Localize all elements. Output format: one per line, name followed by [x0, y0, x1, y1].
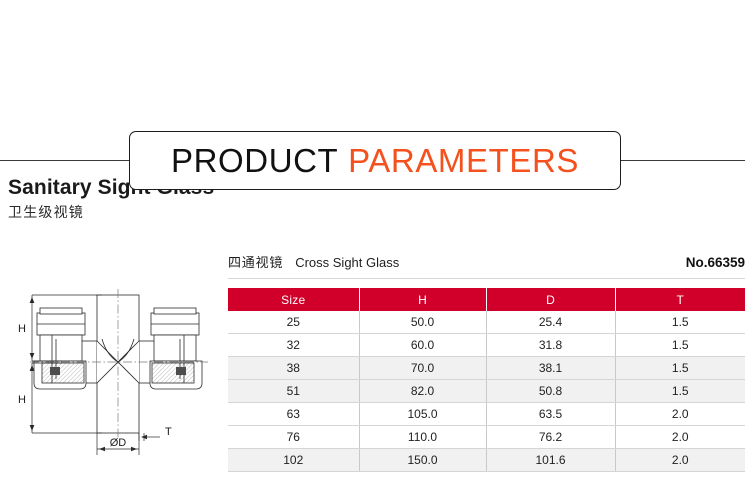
cell-d: 76.2	[486, 426, 615, 449]
cell-h: 110.0	[359, 426, 486, 449]
cell-t: 1.5	[615, 380, 745, 403]
table-row: 51 82.0 50.8 1.5	[228, 380, 745, 403]
dimension-label-thickness: T	[165, 426, 172, 438]
table-row: 32 60.0 31.8 1.5	[228, 334, 745, 357]
table-row: 38 70.0 38.1 1.5	[228, 357, 745, 380]
cell-size: 76	[228, 426, 359, 449]
cell-h: 50.0	[359, 311, 486, 334]
cell-d: 31.8	[486, 334, 615, 357]
column-header-d: D	[486, 288, 615, 311]
table-row: 76 110.0 76.2 2.0	[228, 426, 745, 449]
banner-box: PRODUCT PARAMETERS	[129, 131, 621, 190]
cell-d: 101.6	[486, 449, 615, 472]
column-header-h: H	[359, 288, 486, 311]
cell-size: 102	[228, 449, 359, 472]
cell-size: 51	[228, 380, 359, 403]
cell-t: 1.5	[615, 357, 745, 380]
cell-size: 63	[228, 403, 359, 426]
cell-h: 70.0	[359, 357, 486, 380]
spec-part-number: No.66359	[686, 255, 745, 270]
cell-t: 1.5	[615, 334, 745, 357]
spec-caption-cn: 四通视镜	[228, 255, 283, 270]
cell-h: 60.0	[359, 334, 486, 357]
cell-size: 32	[228, 334, 359, 357]
page-banner: PRODUCT PARAMETERS	[0, 60, 750, 144]
specification-table: Size H D T 25 50.0 25.4 1.5 32 60.0 31.8…	[228, 288, 745, 472]
table-row: 63 105.0 63.5 2.0	[228, 403, 745, 426]
page-title-accent: PARAMETERS	[348, 142, 579, 179]
cell-h: 105.0	[359, 403, 486, 426]
table-header-row: Size H D T	[228, 288, 745, 311]
cell-size: 25	[228, 311, 359, 334]
product-title-cn: 卫生级视镜	[8, 204, 214, 221]
product-technical-drawing: H H ØD T	[10, 283, 225, 465]
cell-d: 50.8	[486, 380, 615, 403]
spec-caption-left: 四通视镜Cross Sight Glass	[228, 252, 399, 271]
page-title: PRODUCT PARAMETERS	[171, 144, 579, 177]
dimension-label-h-lower: H	[18, 394, 26, 406]
cell-size: 38	[228, 357, 359, 380]
dimension-label-diameter: ØD	[110, 437, 127, 449]
table-row: 102 150.0 101.6 2.0	[228, 449, 745, 472]
cell-d: 38.1	[486, 357, 615, 380]
cell-t: 2.0	[615, 449, 745, 472]
cell-d: 25.4	[486, 311, 615, 334]
banner-rule-left	[0, 160, 131, 161]
dimension-label-h-upper: H	[18, 323, 26, 335]
cell-d: 63.5	[486, 403, 615, 426]
banner-rule-right	[620, 160, 745, 161]
cell-t: 2.0	[615, 403, 745, 426]
spec-section: 四通视镜Cross Sight Glass No.66359 Size H D …	[228, 252, 745, 472]
spec-caption: 四通视镜Cross Sight Glass No.66359	[228, 252, 745, 279]
cell-h: 150.0	[359, 449, 486, 472]
spec-caption-en: Cross Sight Glass	[295, 255, 399, 270]
cell-t: 1.5	[615, 311, 745, 334]
column-header-t: T	[615, 288, 745, 311]
column-header-size: Size	[228, 288, 359, 311]
page-title-primary: PRODUCT	[171, 142, 338, 179]
cell-h: 82.0	[359, 380, 486, 403]
table-row: 25 50.0 25.4 1.5	[228, 311, 745, 334]
cell-t: 2.0	[615, 426, 745, 449]
